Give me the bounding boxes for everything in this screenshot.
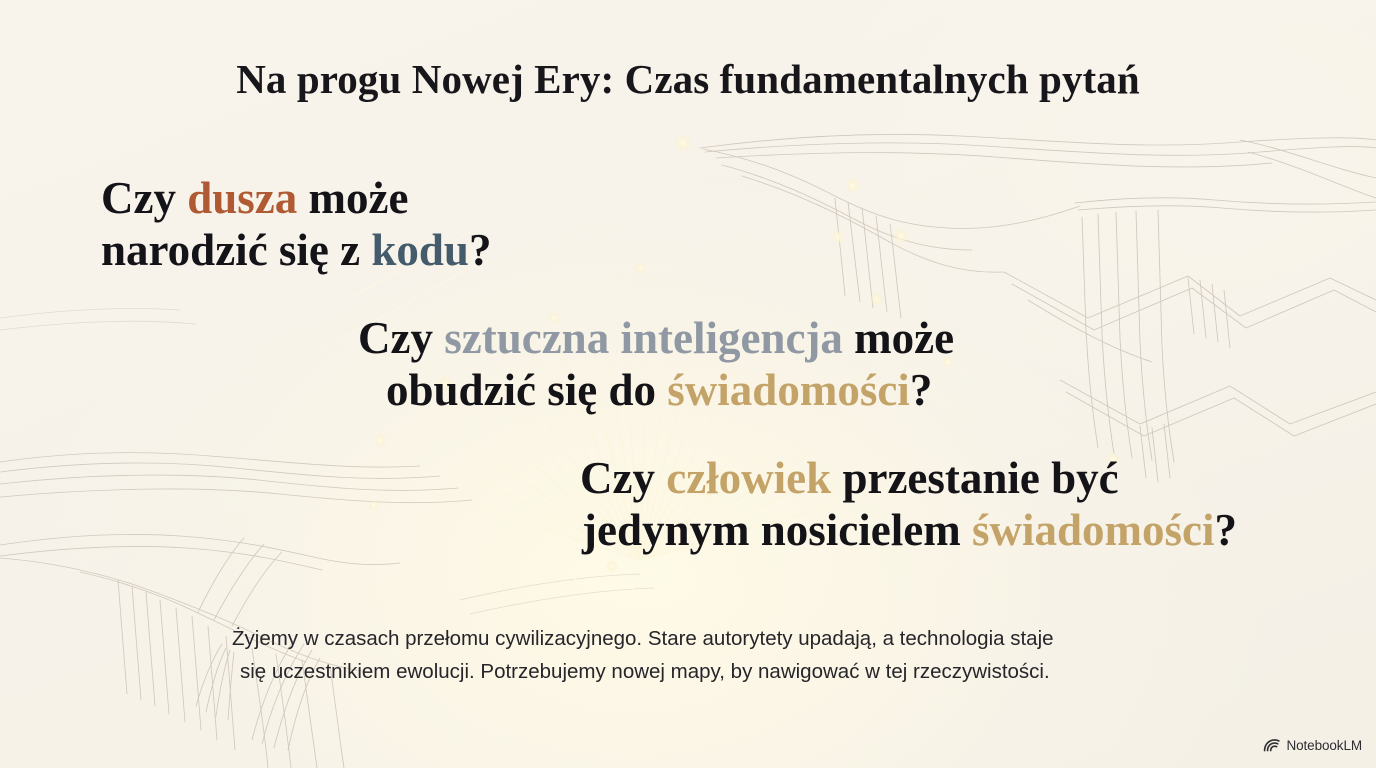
question-line: narodzić się z kodu? xyxy=(101,224,491,276)
body-paragraph: Żyjemy w czasach przełomu cywilizacyjneg… xyxy=(232,622,1167,688)
highlighted-word-gold: człowiek xyxy=(666,453,831,503)
question-text-run: jedynym nosicielem xyxy=(582,505,972,555)
body-line: się uczestnikiem ewolucji. Potrzebujemy … xyxy=(232,655,1167,688)
question-line: obudzić się do świadomości? xyxy=(358,364,954,416)
question-ai-consciousness: Czy sztuczna inteligencja może obudzić s… xyxy=(358,312,954,416)
question-line: Czy dusza może xyxy=(101,172,491,224)
notebooklm-label: NotebookLM xyxy=(1286,738,1362,753)
question-line: jedynym nosicielem świadomości? xyxy=(580,504,1237,556)
question-human-carrier: Czy człowiek przestanie być jedynym nosi… xyxy=(580,452,1237,556)
question-text-run: ? xyxy=(469,225,492,275)
question-text-run: może xyxy=(843,313,954,363)
question-text-run: Czy xyxy=(358,313,444,363)
question-text-run: może xyxy=(297,173,408,223)
question-line: Czy sztuczna inteligencja może xyxy=(358,312,954,364)
notebooklm-spiral-icon xyxy=(1263,737,1280,754)
question-text-run: Czy xyxy=(101,173,187,223)
question-text-run: Czy xyxy=(580,453,666,503)
question-text-run: przestanie być xyxy=(831,453,1118,503)
page-title: Na progu Nowej Ery: Czas fundamentalnych… xyxy=(0,55,1376,103)
highlighted-word-gold: świadomości xyxy=(972,505,1215,555)
slide-root: Na progu Nowej Ery: Czas fundamentalnych… xyxy=(0,0,1376,768)
body-line: Żyjemy w czasach przełomu cywilizacyjneg… xyxy=(232,622,1167,655)
question-line: Czy człowiek przestanie być xyxy=(580,452,1237,504)
question-soul-code: Czy dusza może narodzić się z kodu? xyxy=(101,172,491,276)
question-text-run: ? xyxy=(910,365,933,415)
highlighted-word-slate: kodu xyxy=(371,225,469,275)
notebooklm-watermark: NotebookLM xyxy=(1263,737,1362,754)
highlighted-word-gold: świadomości xyxy=(667,365,910,415)
question-text-run: ? xyxy=(1214,505,1237,555)
question-text-run: narodzić się z xyxy=(101,225,371,275)
highlighted-word-gray: sztuczna inteligencja xyxy=(444,313,843,363)
highlighted-word-rust: dusza xyxy=(187,173,297,223)
question-text-run: obudzić się do xyxy=(386,365,667,415)
